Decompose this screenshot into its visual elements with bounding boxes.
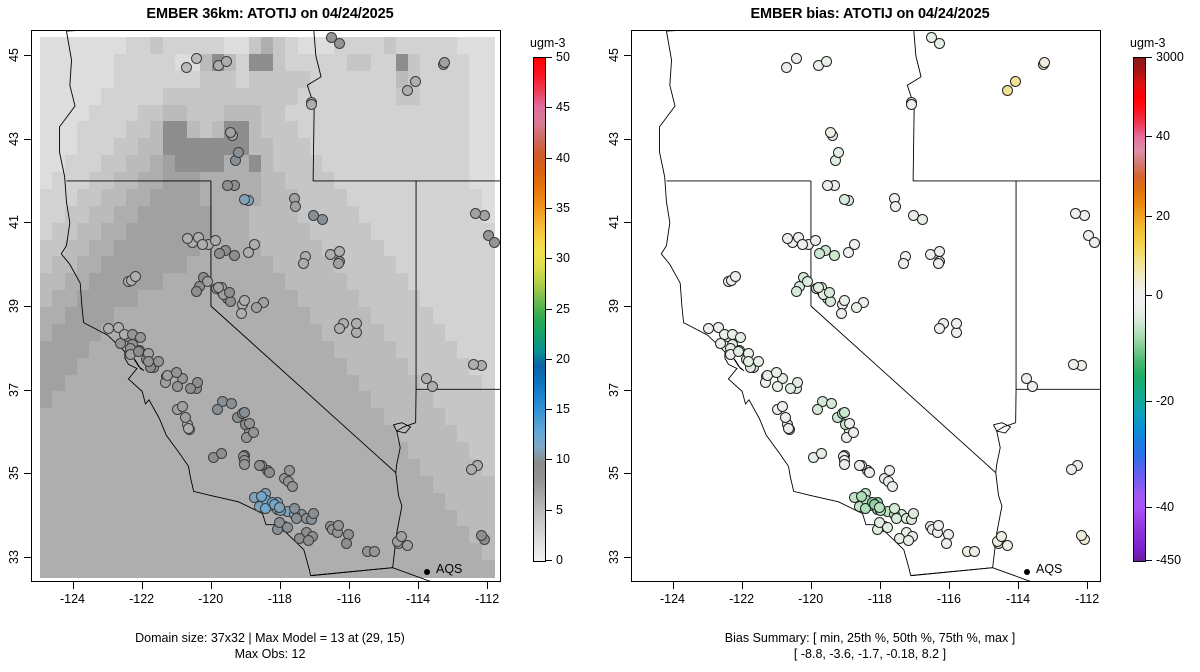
station-marker[interactable] — [703, 323, 714, 334]
y-tick-label: 37 — [607, 383, 621, 397]
x-tick — [811, 582, 812, 589]
station-marker[interactable] — [153, 356, 164, 367]
x-tick-label: -114 — [1006, 592, 1030, 606]
colorbar-tick-label: 45 — [556, 100, 570, 114]
station-marker[interactable] — [197, 239, 208, 250]
x-tick — [73, 582, 74, 589]
station-marker[interactable] — [1039, 57, 1050, 68]
station-marker[interactable] — [233, 147, 244, 158]
model-colorbar-unit: ugm-3 — [530, 36, 565, 50]
station-marker[interactable] — [202, 276, 213, 287]
y-tick — [24, 390, 31, 391]
station-marker[interactable] — [1070, 208, 1081, 219]
station-marker[interactable] — [791, 286, 802, 297]
map-boundary-line — [666, 30, 912, 31]
colorbar-tick-label: 50 — [556, 50, 570, 64]
x-tick-label: -118 — [268, 592, 292, 606]
station-marker[interactable] — [1089, 237, 1100, 248]
x-tick-label: -120 — [798, 592, 823, 606]
x-tick — [880, 582, 881, 589]
colorbar-tick-label: -20 — [1156, 394, 1174, 408]
map-boundary-line — [59, 31, 310, 576]
y-tick-label: 35 — [607, 466, 621, 480]
colorbar-tick — [546, 158, 552, 159]
station-marker[interactable] — [839, 459, 850, 470]
bias-colorbar — [1133, 57, 1146, 562]
station-marker[interactable] — [814, 248, 825, 259]
station-marker[interactable] — [489, 237, 500, 248]
aqs-legend-label: AQS — [436, 562, 462, 576]
station-marker[interactable] — [421, 373, 432, 384]
station-marker[interactable] — [854, 460, 865, 471]
colorbar-tick — [546, 57, 552, 58]
x-tick — [742, 582, 743, 589]
aqs-dot-icon — [1024, 569, 1030, 575]
station-marker[interactable] — [797, 239, 808, 250]
y-tick — [624, 473, 631, 474]
colorbar-tick — [546, 459, 552, 460]
station-marker[interactable] — [780, 412, 791, 423]
station-marker[interactable] — [884, 465, 895, 476]
station-marker[interactable] — [791, 53, 802, 64]
x-tick-label: -112 — [1075, 592, 1099, 606]
colorbar-tick — [1146, 401, 1152, 402]
station-marker[interactable] — [777, 401, 788, 412]
y-tick — [24, 139, 31, 140]
y-tick — [624, 390, 631, 391]
station-marker[interactable] — [785, 383, 796, 394]
station-marker[interactable] — [849, 239, 860, 250]
station-marker[interactable] — [783, 423, 794, 434]
colorbar-tick — [546, 510, 552, 511]
colorbar-tick — [1146, 57, 1152, 58]
station-marker[interactable] — [826, 398, 837, 409]
bias-footer-line-1: Bias Summary: [ min, 25th %, 50th %, 75t… — [600, 630, 1140, 646]
station-marker[interactable] — [851, 302, 862, 313]
colorbar-tick-label: 40 — [1156, 129, 1170, 143]
aqs-legend-label: AQS — [1036, 562, 1062, 576]
station-marker[interactable] — [183, 423, 194, 434]
colorbar-tick — [546, 208, 552, 209]
colorbar-tick — [546, 309, 552, 310]
x-tick-label: -122 — [729, 592, 754, 606]
colorbar-tick-label: 5 — [556, 503, 563, 517]
y-tick-label: 45 — [607, 48, 621, 62]
station-marker[interactable] — [969, 546, 980, 557]
station-marker[interactable] — [248, 427, 259, 438]
y-tick-label: 39 — [7, 299, 21, 313]
model-x-axis: -124-122-120-118-116-114-112 — [31, 582, 501, 583]
station-marker[interactable] — [933, 520, 944, 531]
map-boundary-line — [311, 473, 402, 576]
model-footer-line-1: Domain size: 37x32 | Max Model = 13 at (… — [0, 630, 540, 646]
station-marker[interactable] — [439, 57, 450, 68]
x-tick-label: -112 — [475, 592, 499, 606]
station-marker[interactable] — [229, 250, 240, 261]
x-tick — [949, 582, 950, 589]
station-marker[interactable] — [476, 530, 487, 541]
station-marker[interactable] — [191, 286, 202, 297]
station-marker[interactable] — [1076, 530, 1087, 541]
y-tick — [24, 557, 31, 558]
station-marker[interactable] — [180, 412, 191, 423]
station-marker[interactable] — [753, 356, 764, 367]
station-marker[interactable] — [829, 250, 840, 261]
x-tick — [211, 582, 212, 589]
colorbar-tick-label: -450 — [1156, 553, 1181, 567]
y-tick-label: 41 — [607, 215, 621, 229]
y-tick — [624, 306, 631, 307]
station-marker[interactable] — [891, 513, 902, 524]
station-marker[interactable] — [917, 214, 928, 225]
panel-bias: EMBER bias: ATOTIJ on 04/24/2025 AQS -12… — [600, 0, 1200, 672]
colorbar-tick-label: 30 — [556, 251, 570, 265]
x-tick-label: -114 — [406, 592, 430, 606]
colorbar-tick-label: 20 — [556, 352, 570, 366]
station-marker[interactable] — [284, 465, 295, 476]
colorbar-tick-label: 0 — [556, 553, 563, 567]
model-map-plot-area[interactable]: AQS — [31, 30, 501, 582]
colorbar-tick-label: 3000 — [1156, 50, 1184, 64]
station-marker[interactable] — [1021, 373, 1032, 384]
colorbar-tick — [546, 359, 552, 360]
x-tick — [349, 582, 350, 589]
colorbar-tick — [1146, 136, 1152, 137]
colorbar-tick-label: 10 — [556, 452, 570, 466]
station-marker[interactable] — [171, 367, 182, 378]
y-tick-label: 35 — [7, 466, 21, 480]
station-marker[interactable] — [306, 99, 317, 110]
bias-colorbar-unit: ugm-3 — [1130, 36, 1165, 50]
x-tick — [280, 582, 281, 589]
station-marker[interactable] — [402, 85, 413, 96]
colorbar-tick — [1146, 560, 1152, 561]
station-marker[interactable] — [941, 538, 952, 549]
map-boundary-line — [211, 181, 396, 473]
x-tick-label: -124 — [660, 592, 685, 606]
y-tick-label: 45 — [7, 48, 21, 62]
station-marker[interactable] — [303, 535, 314, 546]
station-marker[interactable] — [825, 127, 836, 138]
x-tick-label: -124 — [60, 592, 85, 606]
station-marker[interactable] — [177, 401, 188, 412]
y-tick — [24, 222, 31, 223]
y-tick — [624, 139, 631, 140]
bias-x-axis: -124-122-120-118-116-114-112 — [631, 582, 1101, 583]
station-marker[interactable] — [470, 208, 481, 219]
x-tick — [418, 582, 419, 589]
aqs-dot-icon — [424, 569, 430, 575]
map-boundary-line — [66, 30, 312, 31]
colorbar-tick — [546, 409, 552, 410]
map-boundary-line — [911, 473, 1002, 576]
colorbar-tick — [546, 560, 552, 561]
station-marker[interactable] — [221, 56, 232, 67]
colorbar-tick-label: 15 — [556, 402, 570, 416]
station-marker[interactable] — [251, 302, 262, 313]
x-tick — [1018, 582, 1019, 589]
station-marker[interactable] — [1002, 85, 1013, 96]
map-boundary-line — [996, 423, 1016, 473]
model-footer-line-2: Max Obs: 12 — [0, 646, 540, 662]
station-marker[interactable] — [182, 233, 193, 244]
y-tick-label: 43 — [607, 132, 621, 146]
colorbar-tick-label: 25 — [556, 302, 570, 316]
y-tick — [624, 557, 631, 558]
y-tick-label: 33 — [7, 550, 21, 564]
colorbar-tick — [546, 258, 552, 259]
colorbar-tick-label: 35 — [556, 201, 570, 215]
station-marker[interactable] — [172, 381, 183, 392]
station-marker[interactable] — [333, 520, 344, 531]
station-marker[interactable] — [821, 56, 832, 67]
x-tick-label: -120 — [198, 592, 223, 606]
station-marker[interactable] — [468, 359, 479, 370]
x-tick-label: -122 — [129, 592, 154, 606]
station-marker[interactable] — [254, 460, 265, 471]
bias-footer-line-2: [ -8.8, -3.6, -1.7, -0.18, 8.2 ] — [600, 646, 1140, 662]
x-tick — [1087, 582, 1088, 589]
colorbar-tick — [546, 107, 552, 108]
station-marker[interactable] — [782, 233, 793, 244]
figure-canvas: EMBER 36km: ATOTIJ on 04/24/2025 AQS -12… — [0, 0, 1200, 672]
colorbar-tick — [1146, 216, 1152, 217]
x-tick — [142, 582, 143, 589]
model-colorbar — [533, 57, 546, 562]
colorbar-tick-label: 40 — [556, 151, 570, 165]
station-marker[interactable] — [334, 246, 345, 257]
station-marker[interactable] — [249, 239, 260, 250]
station-marker[interactable] — [225, 127, 236, 138]
station-marker[interactable] — [369, 546, 380, 557]
station-marker[interactable] — [926, 32, 937, 43]
y-tick-label: 33 — [607, 550, 621, 564]
station-marker[interactable] — [833, 147, 844, 158]
bias-map-plot-area[interactable]: AQS — [631, 30, 1101, 582]
station-marker[interactable] — [239, 459, 250, 470]
station-marker[interactable] — [772, 381, 783, 392]
y-tick — [24, 306, 31, 307]
x-tick-label: -118 — [868, 592, 892, 606]
panel-model-title: EMBER 36km: ATOTIJ on 04/24/2025 — [0, 6, 540, 22]
y-tick — [24, 473, 31, 474]
station-marker[interactable] — [906, 99, 917, 110]
colorbar-tick — [1146, 295, 1152, 296]
panel-model: EMBER 36km: ATOTIJ on 04/24/2025 AQS -12… — [0, 0, 600, 672]
station-marker[interactable] — [333, 258, 344, 269]
station-marker[interactable] — [341, 538, 352, 549]
y-tick — [624, 222, 631, 223]
map-boundary-line — [396, 423, 416, 473]
colorbar-tick-label: 20 — [1156, 209, 1170, 223]
colorbar-tick — [1146, 507, 1152, 508]
station-marker[interactable] — [291, 513, 302, 524]
station-marker[interactable] — [191, 53, 202, 64]
y-tick — [624, 55, 631, 56]
x-tick-label: -116 — [937, 592, 961, 606]
station-marker[interactable] — [264, 467, 275, 478]
station-marker[interactable] — [317, 214, 328, 225]
station-marker[interactable] — [903, 535, 914, 546]
station-marker[interactable] — [226, 398, 237, 409]
map-boundary-line — [659, 31, 910, 576]
x-tick — [487, 582, 488, 589]
x-tick — [673, 582, 674, 589]
station-marker[interactable] — [185, 383, 196, 394]
station-marker[interactable] — [290, 201, 301, 212]
station-marker[interactable] — [890, 201, 901, 212]
station-marker[interactable] — [848, 427, 859, 438]
station-marker[interactable] — [802, 276, 813, 287]
station-marker[interactable] — [771, 367, 782, 378]
station-marker[interactable] — [864, 467, 875, 478]
x-tick-label: -116 — [337, 592, 361, 606]
station-marker[interactable] — [934, 246, 945, 257]
station-marker[interactable] — [933, 258, 944, 269]
station-marker[interactable] — [1010, 76, 1021, 87]
station-marker[interactable] — [1068, 359, 1079, 370]
y-tick-label: 43 — [7, 132, 21, 146]
colorbar-tick-label: -40 — [1156, 500, 1174, 514]
station-marker[interactable] — [410, 76, 421, 87]
panel-bias-title: EMBER bias: ATOTIJ on 04/24/2025 — [600, 6, 1140, 22]
y-tick — [24, 55, 31, 56]
station-marker[interactable] — [103, 323, 114, 334]
map-boundary-line — [811, 181, 996, 473]
y-tick-label: 37 — [7, 383, 21, 397]
colorbar-tick-label: 0 — [1156, 288, 1163, 302]
y-tick-label: 39 — [607, 299, 621, 313]
station-marker[interactable] — [214, 248, 225, 259]
y-tick-label: 41 — [7, 215, 21, 229]
station-marker[interactable] — [326, 32, 337, 43]
